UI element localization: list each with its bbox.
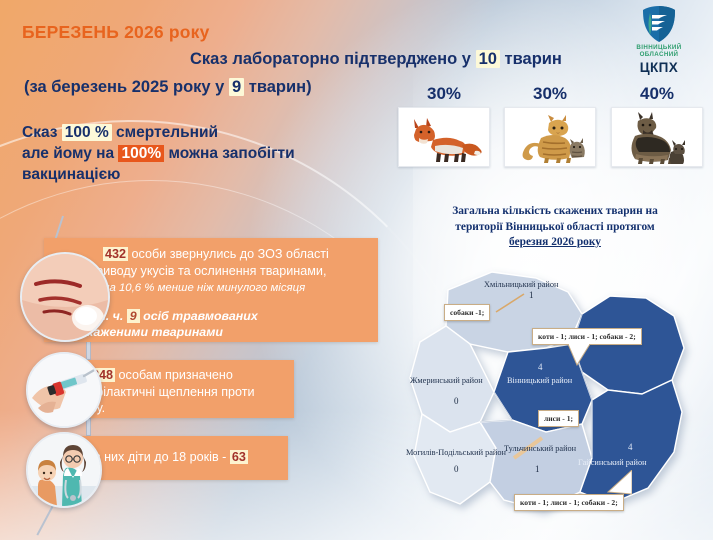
district-count-mohyliv: 0 [454, 464, 459, 474]
callout-vinnytsia: коти - 1; лиси - 1; собаки - 2; [532, 328, 642, 345]
dog-percent: 40% [611, 84, 703, 104]
mortality-line-2: але йому на 100% можна запобігти [22, 143, 295, 164]
connector-box1-box2 [86, 340, 91, 360]
bite-wound-photo [20, 252, 110, 342]
box1-injured-count: 9 [127, 309, 140, 323]
callout-haisyn: коти - 1; лиси - 1; собаки - 2; [514, 494, 624, 511]
shield-icon [639, 4, 679, 44]
dog-photo [611, 107, 703, 167]
box1-line-3: що на 10,6 % менше ніж минулого місяця [84, 280, 305, 296]
map-title-line-3: березня 2026 року [509, 236, 601, 248]
species-percentage-row: 30% [398, 84, 703, 176]
mortality-statement: Сказ 100 % смертельний але йому на 100% … [22, 122, 295, 185]
district-count-khmilnyk: 1 [529, 290, 534, 300]
box1-line-2: з приводу укусів та ослинення тваринами, [80, 263, 326, 279]
syringe-photo [26, 352, 102, 428]
box1-text-4b: осіб травмованих [143, 309, 258, 323]
mortality-l1-b: смертельний [116, 124, 218, 141]
district-count-tulchyn: 1 [535, 464, 540, 474]
district-label-vinnytsia: Вінницький район [507, 376, 572, 385]
confirmed-count: 10 [476, 50, 500, 68]
box2-line-1: 248 особам призначено [90, 367, 233, 383]
species-fox: 30% [398, 84, 490, 167]
fox-photo [398, 107, 490, 167]
district-label-zhmerynka: Жмеринський район [410, 376, 483, 385]
mortality-line-3: вакцинацією [22, 164, 295, 185]
doctor-child-photo [26, 432, 102, 508]
organization-logo: ВІННИЦЬКИЙ ОБЛАСНИЙ ЦКПХ [617, 4, 701, 75]
mortality-l1-a: Сказ [22, 124, 57, 141]
previous-prefix: (за березень 2025 року у [24, 78, 224, 96]
district-label-haisyn: Гайсинський район [578, 458, 647, 467]
previous-suffix: тварин) [249, 78, 312, 96]
box3-text-1: із них діти до 18 років - [92, 450, 226, 464]
box1-text-1: особи звернулись до ЗОЗ області [132, 247, 329, 261]
box1-count: 432 [103, 247, 128, 261]
logo-acronym: ЦКПХ [617, 60, 701, 75]
infographic-canvas: БЕРЕЗЕНЬ 2026 року Сказ лабораторно підт… [0, 0, 713, 540]
box3-line-1: із них діти до 18 років - 63 [92, 449, 248, 465]
box2-text-1: особам призначено [119, 368, 233, 382]
callout-tail-haisyn [606, 470, 632, 496]
previous-count: 9 [229, 78, 244, 96]
mortality-100-percent-orange: 100% [118, 145, 164, 162]
mortality-l2-a: але йому на [22, 145, 114, 162]
mortality-line-1: Сказ 100 % смертельний [22, 122, 295, 143]
callout-tail-vinnytsia [568, 344, 592, 366]
species-dog: 40% [611, 84, 703, 167]
map-title: Загальна кількість скажених тварин на те… [402, 204, 708, 251]
connector-box2-box3 [86, 418, 91, 436]
callout-tulchyn: лиси - 1; [538, 410, 579, 427]
page-title-month: БЕРЕЗЕНЬ 2026 року [22, 22, 210, 43]
confirmed-suffix: тварин [505, 50, 562, 68]
mortality-l2-b: можна запобігти [168, 145, 294, 162]
district-label-khmilnyk: Хмільницький район [484, 280, 558, 289]
fox-percent: 30% [398, 84, 490, 104]
previous-year-line: (за березень 2025 року у 9 тварин) [24, 78, 312, 97]
confirmed-cases-line: Сказ лабораторно підтверджено у 10 твари… [190, 50, 562, 69]
callout-khmilnyk: собаки -1; [444, 304, 490, 321]
map-title-line-2: території Вінницької області протягом [402, 220, 708, 236]
district-count-haisyn: 4 [628, 442, 633, 452]
box1-line-4: в т. ч. 9 осіб травмованих [84, 308, 258, 324]
cat-photo [504, 107, 596, 167]
region-map: Хмільницький район 1 собаки -1; Вінницьк… [396, 252, 713, 540]
confirmed-prefix: Сказ лабораторно підтверджено у [190, 50, 471, 68]
box3-count: 63 [230, 450, 248, 464]
district-count-vinnytsia: 4 [538, 362, 543, 372]
cat-percent: 30% [504, 84, 596, 104]
logo-line-2: ОБЛАСНИЙ [617, 51, 701, 58]
box1-line-1: 432 особи звернулись до ЗОЗ області [103, 246, 329, 262]
box1-line-5: скаженими тваринами [80, 324, 223, 340]
district-count-zhmerynka: 0 [454, 396, 459, 406]
district-label-mohyliv: Могилів-Подільський район [406, 448, 506, 457]
map-title-line-1: Загальна кількість скажених тварин на [402, 204, 708, 220]
mortality-100-percent-cream: 100 % [62, 124, 112, 141]
species-cat: 30% [504, 84, 596, 167]
district-label-tulchyn: Тульчинський район [504, 444, 576, 453]
